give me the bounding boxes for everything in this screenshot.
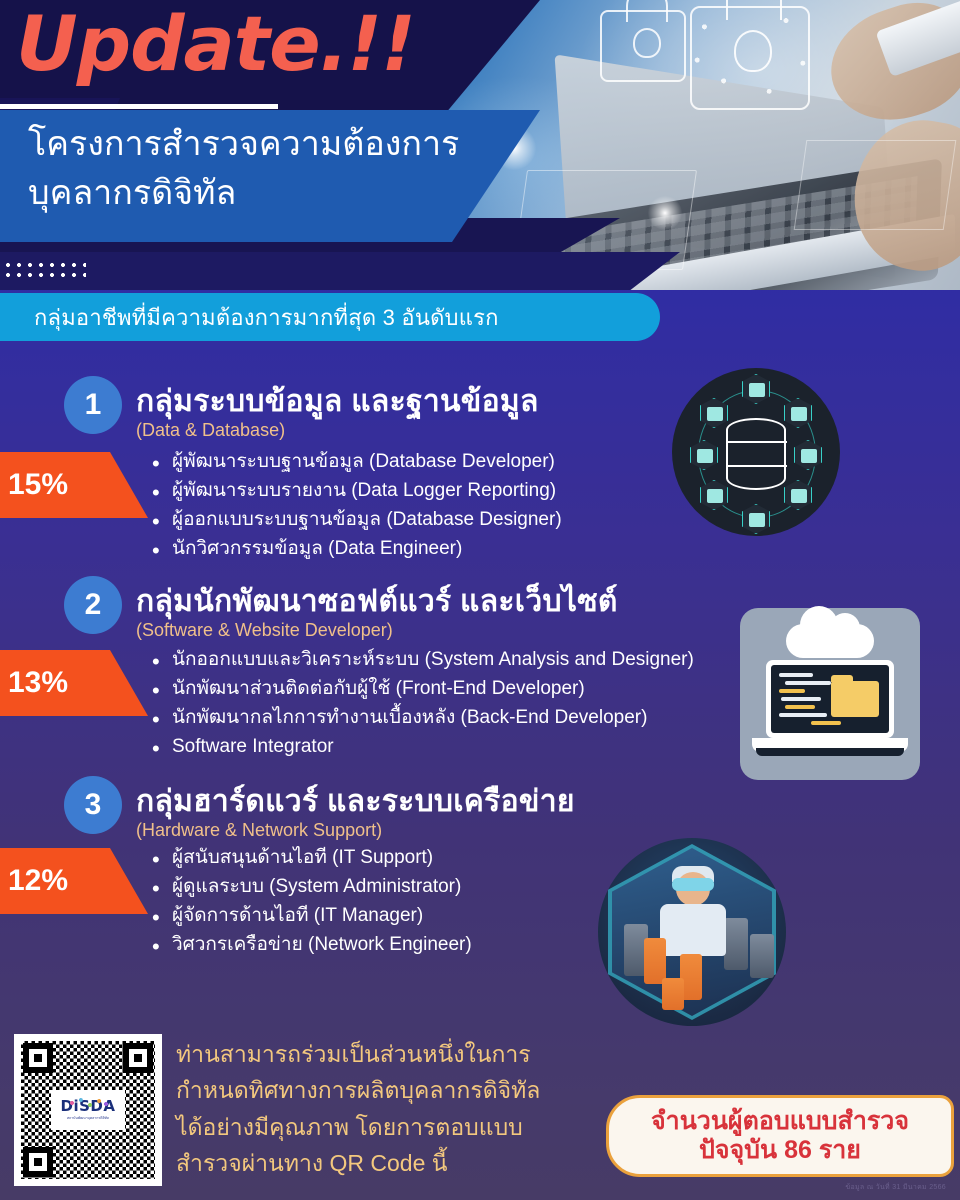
database-cylinder-icon [726, 418, 786, 490]
engineer-goggles-icon [672, 878, 714, 891]
cta-line-3: ได้อย่างมีคุณภาพ โดยการตอบแบบ [176, 1109, 606, 1145]
section-subtitle-1: (Data & Database) [136, 420, 285, 441]
title-divider-rule [0, 104, 278, 109]
percent-badge-1: 15% [0, 452, 148, 518]
job-list-2: นักออกแบบและวิเคราะห์ระบบ (System Analys… [152, 646, 694, 762]
server-rack-far-right-icon [750, 934, 774, 978]
laptop-foot-icon [756, 748, 904, 756]
banner-navy-shape-bottom [0, 252, 680, 290]
page-title: โครงการสำรวจความต้องการ บุคลากรดิจิทัล [28, 120, 498, 219]
list-item: นักวิศวกรรมข้อมูล (Data Engineer) [152, 535, 562, 564]
subtitle-bar-label: กลุ่มอาชีพที่มีความต้องการมากที่สุด 3 อั… [0, 300, 499, 335]
rank-number-badge-1: 1 [64, 376, 122, 434]
list-item: ผู้ดูแลระบบ (System Administrator) [152, 873, 472, 902]
update-headline: Update.!! [16, 6, 415, 82]
disda-logo-dots-icon [68, 1098, 108, 1108]
cta-paragraph: ท่านสามารถร่วมเป็นส่วนหนึ่งในการ กำหนดทิ… [176, 1036, 606, 1181]
list-item: นักออกแบบและวิเคราะห์ระบบ (System Analys… [152, 646, 694, 675]
cta-line-1: ท่านสามารถร่วมเป็นส่วนหนึ่งในการ [176, 1036, 606, 1072]
lens-flare-icon-2 [648, 196, 682, 230]
list-item: ผู้ออกแบบระบบฐานข้อมูล (Database Designe… [152, 506, 562, 535]
qr-finder-bottomleft [23, 1147, 53, 1177]
folder-icon [831, 681, 879, 717]
rank-number-badge-3: 3 [64, 776, 122, 834]
orange-server-box-1 [644, 938, 666, 984]
infographic-page: Update.!! โครงการสำรวจความต้องการ บุคลาก… [0, 0, 960, 1200]
respondent-count-label: จำนวนผู้ตอบแบบสำรวจ [651, 1107, 909, 1137]
network-nodes-icon [690, 6, 810, 110]
laptop-screen-code [771, 665, 889, 733]
cta-line-2: กำหนดทิศทางการผลิตบุคลากรดิจิทัล [176, 1072, 606, 1108]
percent-badge-label-1: 15% [0, 468, 68, 502]
list-item: ผู้จัดการด้านไอที (IT Manager) [152, 902, 472, 931]
qr-finder-topleft [23, 1043, 53, 1073]
credit-text: ข้อมูล ณ วันที่ 31 มีนาคม 2566 [845, 1182, 946, 1193]
list-item: วิศวกรเครือข่าย (Network Engineer) [152, 931, 472, 960]
server-rack-right-icon [724, 918, 748, 970]
qr-code-pattern: DiSDA สถาบันพัฒนาบุคลากรดิจิทัล [21, 1041, 155, 1179]
list-item: นักพัฒนากลไกการทำงานเบื้องหลัง (Back-End… [152, 704, 694, 733]
qr-code[interactable]: DiSDA สถาบันพัฒนาบุคลากรดิจิทัล [14, 1034, 162, 1186]
respondent-count-badge: จำนวนผู้ตอบแบบสำรวจ ปัจจุบัน 86 ราย [606, 1095, 954, 1177]
section-title-3: กลุ่มฮาร์ดแวร์ และระบบเครือข่าย [136, 778, 575, 825]
list-item: ผู้พัฒนาระบบรายงาน (Data Logger Reportin… [152, 477, 562, 506]
header-banner: Update.!! โครงการสำรวจความต้องการ บุคลาก… [0, 0, 960, 290]
laptop-icon [766, 660, 894, 738]
page-title-line2: บุคลากรดิจิทัล [28, 169, 498, 218]
cloud-icon [786, 624, 874, 658]
job-list-1: ผู้พัฒนาระบบฐานข้อมูล (Database Develope… [152, 448, 562, 564]
section-subtitle-3: (Hardware & Network Support) [136, 820, 382, 841]
rank-number-badge-2: 2 [64, 576, 122, 634]
job-list-3: ผู้สนับสนุนด้านไอที (IT Support) ผู้ดูแล… [152, 844, 472, 960]
list-item: ผู้สนับสนุนด้านไอที (IT Support) [152, 844, 472, 873]
subtitle-bar: กลุ่มอาชีพที่มีความต้องการมากที่สุด 3 อั… [0, 293, 660, 341]
percent-badge-label-2: 13% [0, 666, 68, 700]
qr-finder-topright [123, 1043, 153, 1073]
percent-badge-label-3: 12% [0, 864, 68, 898]
dot-grid-decoration [6, 263, 86, 281]
disda-logo-subtitle: สถาบันพัฒนาบุคลากรดิจิทัล [67, 1116, 109, 1121]
list-item: นักพัฒนาส่วนติดต่อกับผู้ใช้ (Front-End D… [152, 675, 694, 704]
respondent-count-value: ปัจจุบัน 86 ราย [699, 1136, 861, 1166]
list-item: ผู้พัฒนาระบบฐานข้อมูล (Database Develope… [152, 448, 562, 477]
laptop-cloud-code-icon [740, 608, 920, 780]
section-title-2: กลุ่มนักพัฒนาซอฟต์แวร์ และเว็บไซต์ [136, 578, 618, 625]
section-subtitle-2: (Software & Website Developer) [136, 620, 393, 641]
percent-badge-3: 12% [0, 848, 148, 914]
section-title-1: กลุ่มระบบข้อมูล และฐานข้อมูล [136, 378, 539, 425]
list-item: Software Integrator [152, 733, 694, 762]
percent-badge-2: 13% [0, 650, 148, 716]
disda-logo: DiSDA สถาบันพัฒนาบุคลากรดิจิทัล [51, 1090, 125, 1130]
network-engineer-server-icon [598, 838, 786, 1026]
hologram-frame-right-icon [794, 140, 957, 230]
cta-line-4: สำรวจผ่านทาง QR Code นี้ [176, 1145, 606, 1181]
orange-server-box-3 [662, 978, 684, 1010]
page-title-line1: โครงการสำรวจความต้องการ [28, 125, 459, 163]
engineer-coat-icon [660, 904, 726, 956]
padlock-icon-small [600, 10, 686, 82]
database-network-icon [672, 368, 840, 536]
